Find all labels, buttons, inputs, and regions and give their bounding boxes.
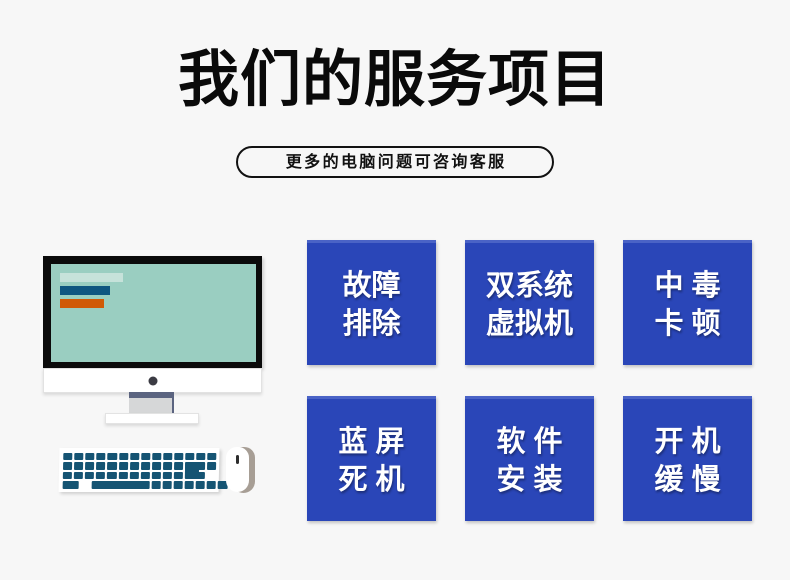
- tile-line-1: 开机: [646, 422, 728, 460]
- keyboard-key: [207, 462, 216, 470]
- keyboard-key: [85, 453, 94, 461]
- tile-line-1: 中毒: [646, 266, 728, 304]
- screen-bar-blue: [60, 286, 110, 295]
- keyboard-key: [63, 453, 72, 461]
- keyboard-key: [163, 462, 172, 470]
- tile-line-1: 双系统: [486, 266, 573, 304]
- monitor-bezel: [43, 256, 262, 368]
- keyboard-key: [152, 472, 161, 480]
- keyboard-key: [174, 472, 183, 480]
- mouse-scroll-wheel-icon: [236, 455, 239, 464]
- header: 我们的服务项目 更多的电脑问题可咨询客服: [0, 0, 790, 200]
- monitor-stand-neck: [129, 398, 174, 413]
- keyboard-key: [174, 481, 183, 489]
- keyboard-key: [140, 472, 149, 480]
- keyboard-key: [119, 462, 128, 470]
- page-title: 我们的服务项目: [0, 44, 790, 116]
- tile-line-1: 故障: [342, 266, 400, 304]
- tile-line-2: 卡顿: [646, 304, 728, 342]
- keyboard-key: [130, 462, 139, 470]
- tile-line-2: 排除: [342, 304, 400, 342]
- keyboard-key: [91, 481, 149, 489]
- keyboard-key: [141, 453, 150, 461]
- desktop-computer-illustration: [30, 245, 280, 520]
- keyboard-key: [174, 462, 183, 470]
- keyboard-key: [108, 453, 117, 461]
- screen-bar-light: [60, 273, 123, 282]
- tile-line-2: 缓慢: [646, 460, 728, 498]
- tile-line-2: 虚拟机: [486, 304, 573, 342]
- keyboard-key: [118, 472, 127, 480]
- keyboard-key: [107, 462, 116, 470]
- keyboard-key: [97, 453, 106, 461]
- keyboard-key: [141, 462, 150, 470]
- keyboard-key: [174, 453, 183, 461]
- keyboard-key: [85, 472, 94, 480]
- keyboard-key: [196, 481, 205, 489]
- service-tile-bsod-crash[interactable]: 蓝屏 死机: [307, 396, 436, 521]
- keyboard-key: [152, 453, 161, 461]
- keyboard-key: [130, 453, 139, 461]
- keyboard-key: [163, 453, 172, 461]
- service-tile-software-install[interactable]: 软件 安装: [465, 396, 594, 521]
- service-tile-dual-boot-vm[interactable]: 双系统 虚拟机: [465, 240, 594, 365]
- keyboard-key: [162, 481, 171, 489]
- keyboard-key: [63, 472, 72, 480]
- keyboard-key: [63, 462, 72, 470]
- keyboard-key: [74, 472, 83, 480]
- keyboard-illustration: [59, 448, 220, 492]
- mouse-body: [226, 447, 249, 492]
- keyboard-key: [196, 453, 205, 461]
- mouse-illustration: [226, 447, 255, 493]
- keyboard-key: [74, 453, 83, 461]
- keyboard-key: [207, 481, 216, 489]
- subtitle-pill: 更多的电脑问题可咨询客服: [236, 146, 554, 178]
- tile-line-2: 死机: [330, 460, 412, 498]
- monitor-chin: [43, 368, 262, 393]
- keyboard-key: [96, 472, 105, 480]
- service-tile-grid: 故障 排除 双系统 虚拟机 中毒 卡顿 蓝屏 死机 软件 安装 开机 缓慢: [307, 240, 752, 521]
- keyboard-key: [107, 472, 116, 480]
- monitor-stand-base: [105, 413, 199, 424]
- service-tile-slow-boot[interactable]: 开机 缓慢: [623, 396, 752, 521]
- subtitle-text: 更多的电脑问题可咨询客服: [283, 154, 506, 170]
- service-tile-fault-diagnosis[interactable]: 故障 排除: [307, 240, 436, 365]
- tile-line-1: 蓝屏: [330, 422, 412, 460]
- keyboard-key: [119, 453, 128, 461]
- service-tile-virus-lag[interactable]: 中毒 卡顿: [623, 240, 752, 365]
- tile-line-1: 软件: [488, 422, 570, 460]
- keyboard-key: [129, 472, 138, 480]
- keyboard-key: [185, 453, 194, 461]
- keyboard-key: [85, 462, 94, 470]
- keyboard-key: [63, 481, 79, 489]
- keyboard-key: [163, 472, 172, 480]
- keyboard-key: [74, 462, 83, 470]
- monitor-screen: [51, 264, 256, 362]
- keyboard-key-enter: [185, 462, 199, 479]
- screen-bar-orange: [60, 299, 104, 308]
- tile-line-2: 安装: [488, 460, 570, 498]
- keyboard-key: [151, 481, 160, 489]
- keyboard-key: [208, 453, 217, 461]
- monitor-power-dot-icon: [148, 376, 157, 385]
- keyboard-key: [185, 481, 194, 489]
- keyboard-key: [152, 462, 161, 470]
- keyboard-key: [96, 462, 105, 470]
